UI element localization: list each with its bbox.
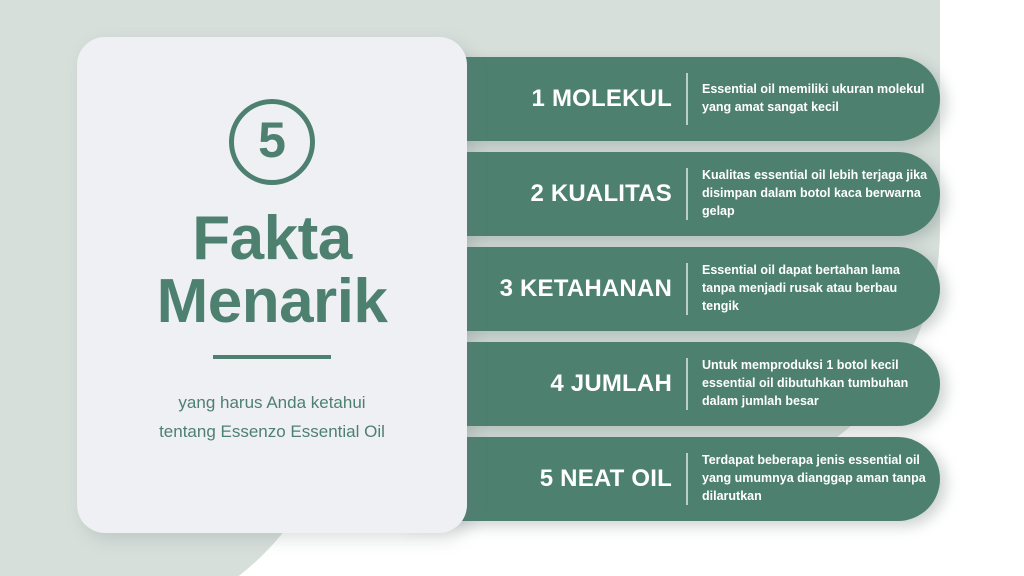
fact-item-5[interactable]: 5 NEAT OIL Terdapat beberapa jenis essen…	[400, 437, 940, 521]
fact-description: Kualitas essential oil lebih terjaga jik…	[688, 167, 930, 220]
fact-item-1[interactable]: 1 MOLEKUL Essential oil memiliki ukuran …	[400, 57, 940, 141]
page-subtitle: yang harus Anda ketahui tentang Essenzo …	[107, 389, 437, 447]
badge-number: 5	[258, 115, 286, 165]
fact-title: 2 KUALITAS	[460, 181, 686, 207]
page-title: Fakta Menarik	[157, 207, 388, 333]
page-subtitle-line-2: tentang Essenzo Essential Oil	[107, 418, 437, 447]
fact-item-2[interactable]: 2 KUALITAS Kualitas essential oil lebih …	[400, 152, 940, 236]
fact-title: 5 NEAT OIL	[460, 466, 686, 492]
fact-description: Terdapat beberapa jenis essential oil ya…	[688, 452, 930, 505]
fact-item-4[interactable]: 4 JUMLAH Untuk memproduksi 1 botol kecil…	[400, 342, 940, 426]
page-title-line-1: Fakta	[157, 207, 388, 270]
fact-item-3[interactable]: 3 KETAHANAN Essential oil dapat bertahan…	[400, 247, 940, 331]
fact-description: Essential oil memiliki ukuran molekul ya…	[688, 81, 930, 117]
infographic-canvas: 1 MOLEKUL Essential oil memiliki ukuran …	[0, 0, 1024, 576]
fact-title: 1 MOLEKUL	[460, 86, 686, 112]
title-card: 5 Fakta Menarik yang harus Anda ketahui …	[77, 37, 467, 533]
title-divider	[213, 355, 331, 359]
fact-title: 3 KETAHANAN	[460, 276, 686, 302]
page-subtitle-line-1: yang harus Anda ketahui	[107, 389, 437, 418]
number-badge-circle-icon: 5	[229, 99, 315, 185]
page-title-line-2: Menarik	[157, 270, 388, 333]
fact-description: Untuk memproduksi 1 botol kecil essentia…	[688, 357, 930, 410]
facts-list: 1 MOLEKUL Essential oil memiliki ukuran …	[400, 57, 940, 521]
fact-title: 4 JUMLAH	[460, 371, 686, 397]
fact-description: Essential oil dapat bertahan lama tanpa …	[688, 262, 930, 315]
